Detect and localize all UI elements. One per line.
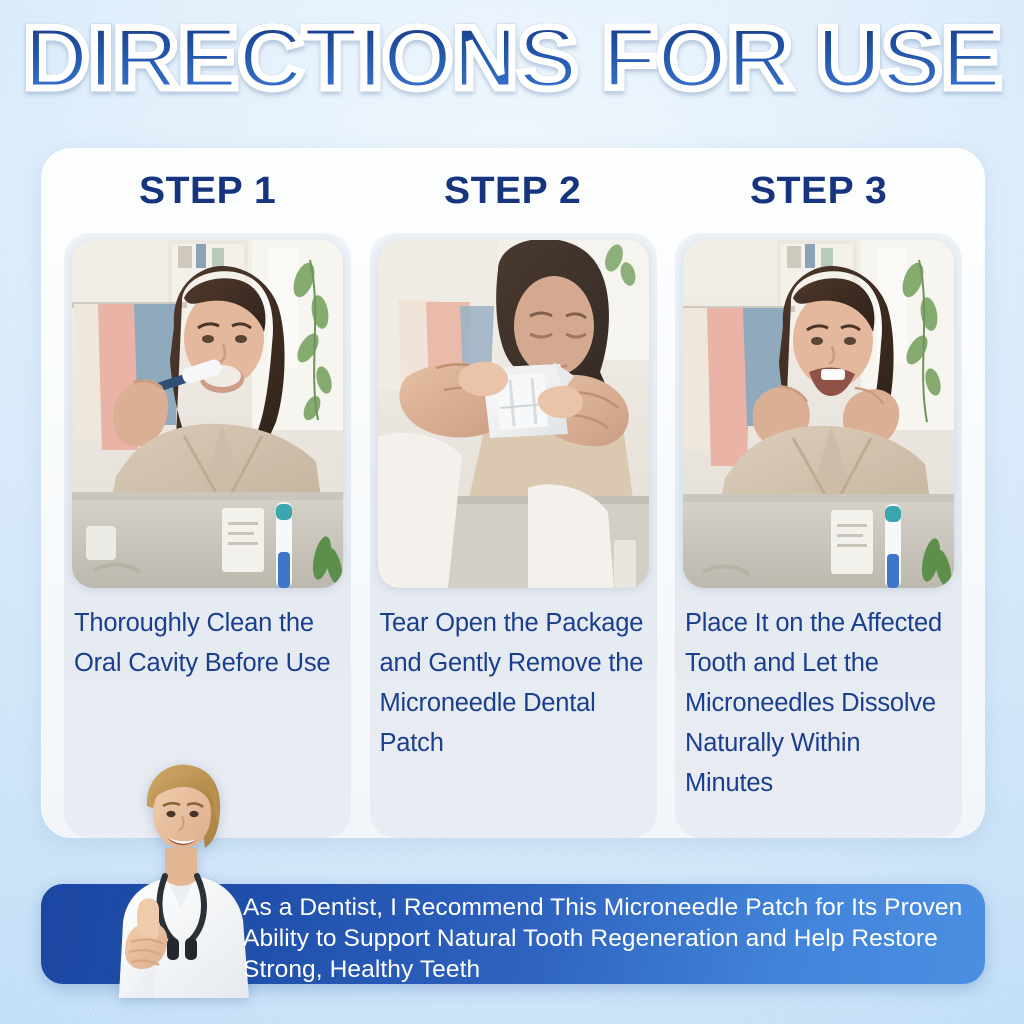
- step-1: STEP 1: [64, 148, 351, 838]
- step-2-caption: Tear Open the Package and Gently Remove …: [380, 603, 650, 763]
- step-1-caption: Thoroughly Clean the Oral Cavity Before …: [74, 603, 344, 683]
- dentist-figure: [97, 752, 267, 998]
- photo-opening-sachet: [378, 240, 649, 588]
- banner-text: As a Dentist, I Recommend This Microneed…: [243, 892, 973, 985]
- step-3: STEP 3: [675, 148, 962, 838]
- step-1-photo: [72, 240, 343, 588]
- steps-container: STEP 1: [41, 148, 985, 838]
- step-3-heading: STEP 3: [750, 170, 887, 213]
- photo-applying-patch: [683, 240, 954, 588]
- step-2-heading: STEP 2: [444, 170, 581, 213]
- step-2-photo: [378, 240, 649, 588]
- step-1-heading: STEP 1: [139, 170, 276, 213]
- step-2: STEP 2: [370, 148, 657, 838]
- page-title: DIRECTIONS FOR USE: [0, 14, 1024, 102]
- step-3-caption: Place It on the Affected Tooth and Let t…: [685, 603, 955, 803]
- photo-brushing-teeth: [72, 240, 343, 588]
- page-title-text: DIRECTIONS FOR USE: [23, 14, 1001, 102]
- step-3-photo: [683, 240, 954, 588]
- dentist-thumbs-up-illustration: [97, 752, 267, 998]
